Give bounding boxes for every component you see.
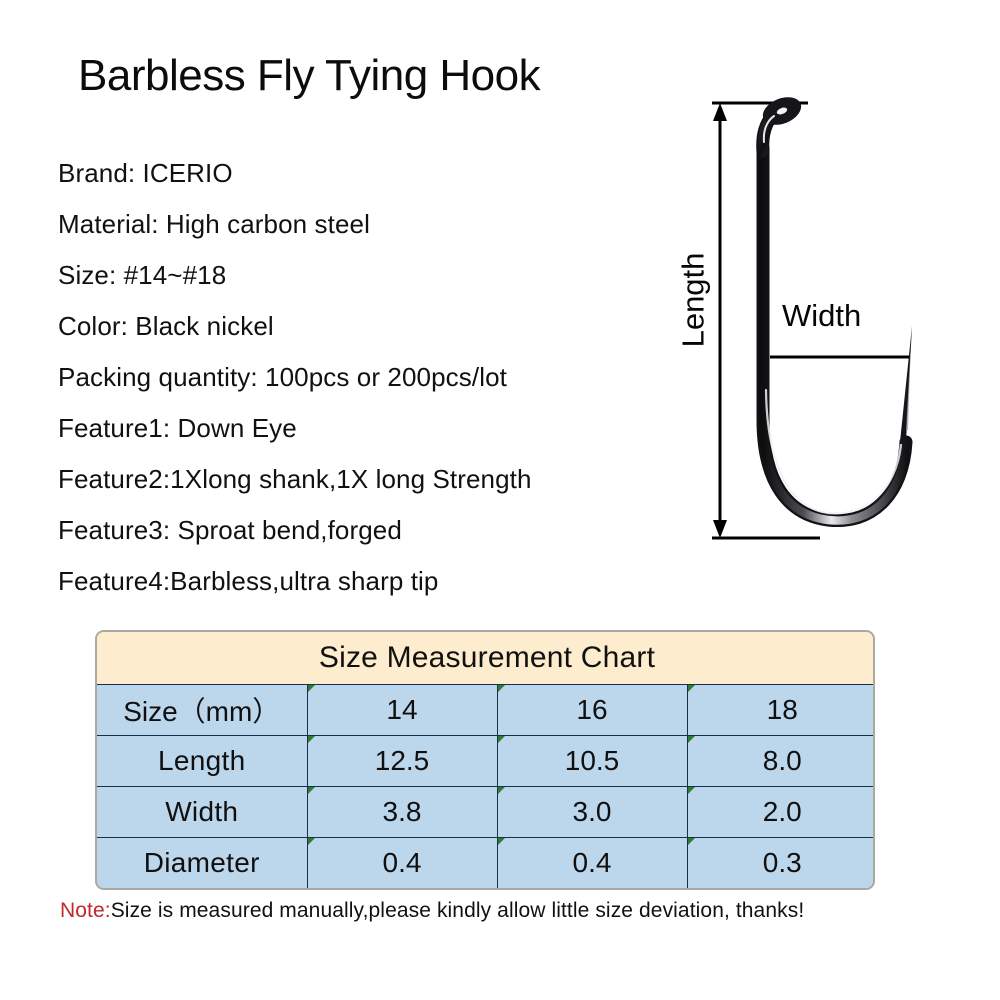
- row-header-length: Length: [97, 736, 307, 787]
- size-measurement-table: Size Measurement Chart Size（mm） 14 16 18…: [95, 630, 875, 890]
- size-value-3: 18: [687, 685, 875, 736]
- table-row: Width 3.8 3.0 2.0: [97, 787, 875, 838]
- spec-feature4: Feature4:Barbless,ultra sharp tip: [58, 556, 698, 607]
- specification-list: Brand: ICERIO Material: High carbon stee…: [58, 148, 698, 607]
- table-row-sizes: Size（mm） 14 16 18: [97, 685, 875, 736]
- spec-material: Material: High carbon steel: [58, 199, 698, 250]
- width-dimension-label: Width: [782, 298, 861, 334]
- length-value-16: 10.5: [497, 736, 687, 787]
- spec-feature2: Feature2:1Xlong shank,1X long Strength: [58, 454, 698, 505]
- table-row: Diameter 0.4 0.4 0.3: [97, 838, 875, 889]
- size-value-1: 14: [307, 685, 497, 736]
- diameter-value-16: 0.4: [497, 838, 687, 889]
- page-title: Barbless Fly Tying Hook: [78, 50, 540, 102]
- table-row: Length 12.5 10.5 8.0: [97, 736, 875, 787]
- diameter-value-18: 0.3: [687, 838, 875, 889]
- spec-feature1: Feature1: Down Eye: [58, 403, 698, 454]
- width-value-18: 2.0: [687, 787, 875, 838]
- width-value-14: 3.8: [307, 787, 497, 838]
- length-dimension-label: Length: [675, 253, 711, 348]
- spec-packing: Packing quantity: 100pcs or 200pcs/lot: [58, 352, 698, 403]
- diameter-value-14: 0.4: [307, 838, 497, 889]
- spec-brand: Brand: ICERIO: [58, 148, 698, 199]
- spec-color: Color: Black nickel: [58, 301, 698, 352]
- size-value-2: 16: [497, 685, 687, 736]
- table-caption-row: Size Measurement Chart: [97, 632, 875, 685]
- hook-diagram: Length Width: [660, 90, 1000, 560]
- row-header-width: Width: [97, 787, 307, 838]
- width-value-16: 3.0: [497, 787, 687, 838]
- length-value-18: 8.0: [687, 736, 875, 787]
- note-text: Size is measured manually,please kindly …: [111, 899, 805, 922]
- spec-feature3: Feature3: Sproat bend,forged: [58, 505, 698, 556]
- note-tag: Note:: [60, 899, 111, 922]
- table-caption: Size Measurement Chart: [97, 632, 875, 685]
- row-header-size: Size（mm）: [97, 685, 307, 736]
- length-value-14: 12.5: [307, 736, 497, 787]
- measurement-note: Note:Size is measured manually,please ki…: [60, 898, 804, 924]
- spec-size: Size: #14~#18: [58, 250, 698, 301]
- row-header-diameter: Diameter: [97, 838, 307, 889]
